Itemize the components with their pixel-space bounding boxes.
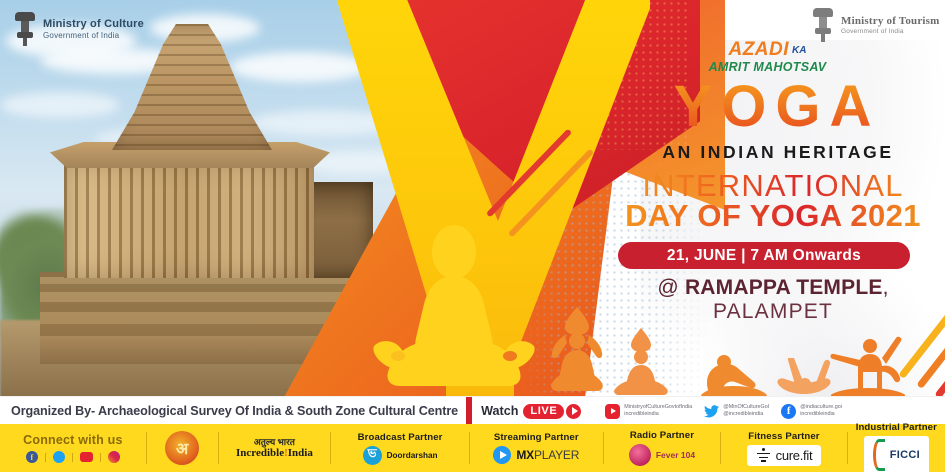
incredible-word: Incredible [236, 447, 284, 459]
india-word: India [288, 447, 313, 459]
handle-youtube[interactable]: MinistryofCultureGovtofIndia incrediblei… [605, 404, 692, 419]
industrial-partner-title: Industrial Partner [856, 422, 937, 433]
ministry-culture-line1: Ministry of Culture [43, 18, 144, 31]
venue-comma: , [883, 276, 889, 299]
partner-industrial: Industrial Partner FICCI [848, 424, 945, 472]
twitter-icon [704, 404, 719, 419]
mx-bold: MX [516, 448, 534, 462]
handle-twitter[interactable]: @MinOfCultureGoI @incredibleindia [704, 404, 769, 419]
twitter-handle-line1: @MinOfCultureGoI [723, 404, 769, 410]
venue-name-line: @ RAMAPPA TEMPLE, [608, 276, 938, 300]
connect-with-us-block: Connect with us f [0, 424, 146, 472]
partner-fitness: Fitness Partner cure.fit [721, 424, 847, 472]
ashoka-emblem-icon [14, 12, 36, 46]
divider [72, 453, 73, 462]
fitness-partner-title: Fitness Partner [748, 431, 819, 442]
watch-live-group[interactable]: Watch LIVE [481, 404, 581, 419]
ka-word: KA [792, 45, 806, 56]
red-divider [466, 397, 472, 425]
connect-with-us-label: Connect with us [23, 433, 123, 447]
silhouette-dancer-pose [830, 330, 906, 398]
azadi-ka-amrit-mahotsav-logo: AZADIKA AMRIT MAHOTSAV [705, 40, 830, 74]
mxplayer-logo-icon [493, 446, 511, 464]
partner-broadcast: Broadcast Partner ভ Doordarshan [331, 424, 469, 472]
incredible-india-emblem: अ [147, 424, 218, 472]
ministry-culture-line2: Government of India [43, 31, 144, 40]
ashoka-emblem-icon [812, 8, 834, 42]
doordarshan-name: Doordarshan [387, 451, 438, 460]
fever-fm-logo-icon [629, 444, 651, 466]
twitter-handle-line2: @incredibleindia [723, 411, 763, 417]
fever-name: Fever 104 [656, 450, 695, 460]
streaming-partner-title: Streaming Partner [494, 432, 579, 443]
twitter-icon[interactable] [53, 451, 65, 463]
ministry-of-culture-logo: Ministry of Culture Government of India [14, 12, 144, 46]
subtitle-indian-heritage: AN INDIAN HERITAGE [622, 142, 934, 163]
silhouette-namaste-pose [548, 305, 606, 398]
at-symbol: @ [657, 276, 679, 299]
divider [100, 453, 101, 462]
instagram-icon[interactable] [108, 451, 120, 463]
play-icon[interactable] [566, 404, 581, 419]
incredible-india-hindi: अतुल्य भारत [236, 437, 313, 447]
ministry-tourism-line2: Government of India [841, 28, 940, 35]
facebook-handle-line1: @indiaculture.goi [800, 404, 842, 410]
page-title-yoga: YOGA [622, 78, 932, 136]
event-line-day-of-yoga: DAY OF YOGA 2021 [608, 200, 938, 233]
incredible-india-logo-icon: अ [165, 431, 199, 465]
venue-city: PALAMPET [608, 300, 938, 324]
ramappa-temple-structure [40, 34, 370, 364]
curefit-logo-icon [756, 448, 771, 463]
facebook-handle-line2: incredibleindia [800, 411, 834, 417]
silhouette-namaste-pose [610, 326, 672, 398]
curefit-name: cure.fit [776, 448, 813, 463]
amrit-mahotsav-word: AMRIT MAHOTSAV [705, 61, 830, 74]
youtube-handle-line2: incredibleindia [624, 411, 658, 417]
youtube-icon [605, 404, 620, 419]
date-time-badge: 21, JUNE | 7 AM Onwards [618, 242, 910, 269]
organized-by-text: Organized By- Archaeological Survey Of I… [0, 404, 458, 418]
mx-light: PLAYER [534, 448, 579, 462]
yoga-day-banner: Ministry of Culture Government of India … [0, 0, 945, 472]
divider [45, 453, 46, 462]
youtube-handle-line1: MinistryofCultureGovtofIndia [624, 404, 692, 410]
ficci-name: FICCI [890, 449, 920, 461]
partner-bar: Connect with us f अ अतुल्य भारत Incredib… [0, 424, 945, 472]
silhouette-meditation-lotus-pose [368, 222, 540, 398]
social-handles-group: MinistryofCultureGovtofIndia incrediblei… [605, 404, 842, 419]
venue-name: RAMAPPA TEMPLE [685, 276, 883, 299]
incredible-india-wordmark: अतुल्य भारत Incredible!India [218, 424, 330, 472]
broadcast-partner-title: Broadcast Partner [358, 432, 443, 443]
partner-radio: Radio Partner Fever 104 [604, 424, 721, 472]
silhouette-bow-pose [700, 350, 768, 398]
ministry-of-tourism-logo: Ministry of Tourism Government of India [812, 8, 940, 42]
ministry-tourism-line1: Ministry of Tourism [841, 15, 940, 28]
facebook-icon[interactable]: f [26, 451, 38, 463]
live-badge: LIVE [523, 404, 564, 419]
watch-label: Watch [481, 404, 518, 418]
handle-facebook[interactable]: f @indiaculture.goi incredibleindia [781, 404, 842, 419]
azadi-word: AZADI [728, 39, 789, 60]
organized-by-bar: Organized By- Archaeological Survey Of I… [0, 396, 945, 425]
youtube-icon[interactable] [80, 452, 93, 462]
doordarshan-logo-icon: ভ [363, 446, 382, 465]
partner-streaming: Streaming Partner MXPLAYER [470, 424, 603, 472]
facebook-icon: f [781, 404, 796, 419]
silhouette-supine-pose [774, 358, 838, 398]
radio-partner-title: Radio Partner [630, 430, 694, 441]
temple-pillars [64, 160, 314, 278]
ficci-logo-icon [873, 439, 885, 471]
